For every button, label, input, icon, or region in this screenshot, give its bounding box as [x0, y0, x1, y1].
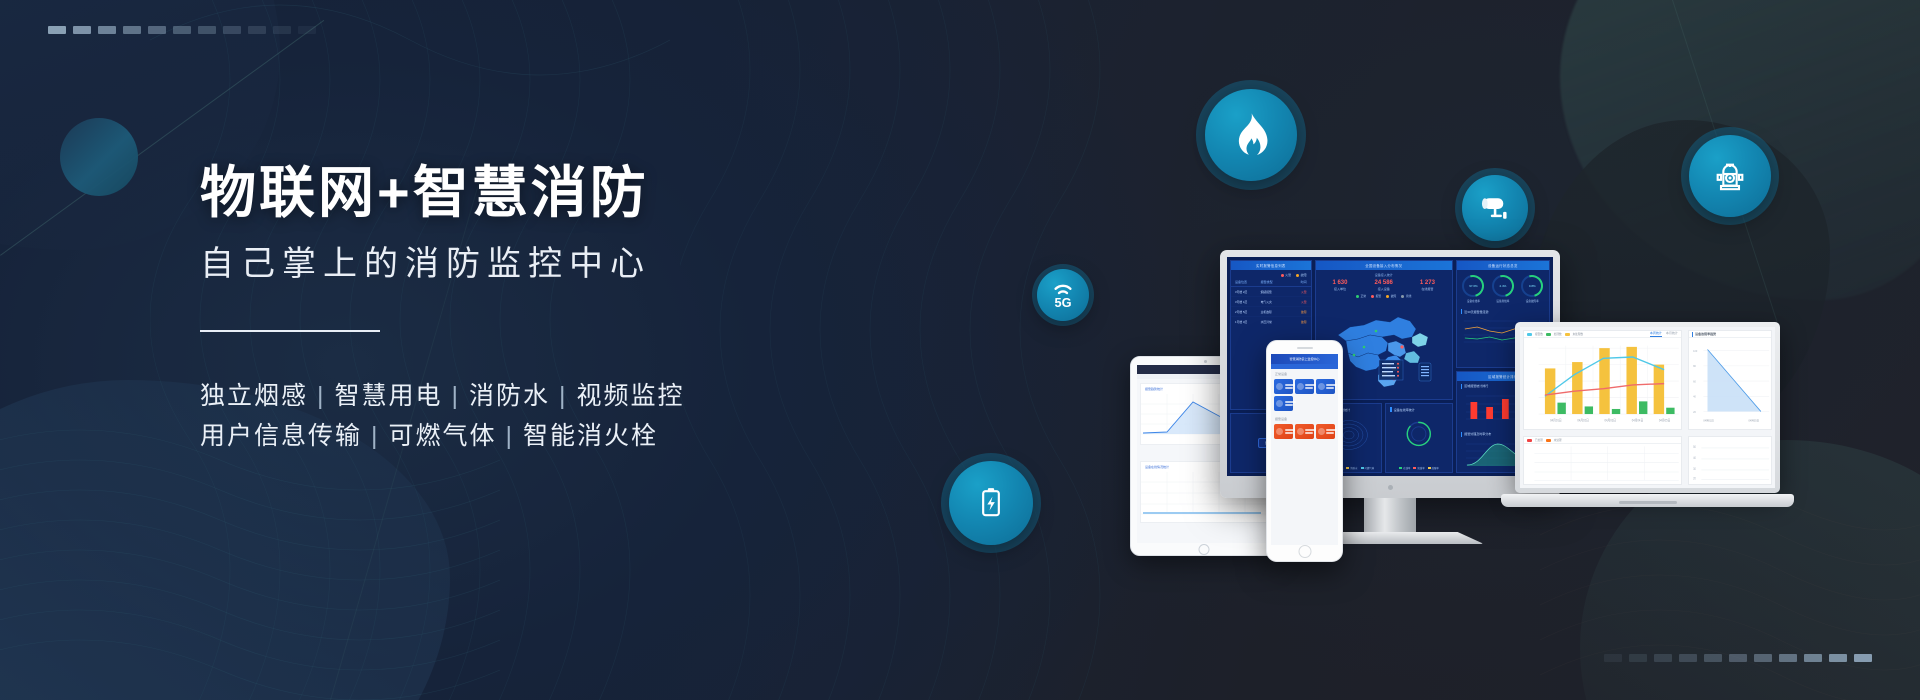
tablet-home-button[interactable]	[1131, 543, 1277, 555]
laptop-bottom-card: 已处理 未处理	[1523, 436, 1682, 485]
cell-status: 故障	[1291, 310, 1307, 314]
axis-tick: 04月05日	[1659, 418, 1670, 422]
tile-icon	[1318, 383, 1325, 390]
badge-hydrant	[1681, 127, 1779, 225]
legend-label: 已处理	[1535, 438, 1543, 442]
legend-fault: 故障	[1301, 273, 1307, 277]
cell-type: 电气火灾	[1261, 300, 1288, 304]
feature-separator: |	[443, 382, 470, 410]
online-rate-panel: 设备在线率统计 在线率 离线率	[1385, 403, 1453, 473]
camera-icon	[1477, 190, 1513, 226]
chart-legend: 已处理 未处理	[1527, 438, 1562, 442]
device-status-header: 设备运行状态总览	[1457, 261, 1549, 270]
hydrant-icon	[1710, 156, 1750, 196]
feature-row-1: 独立烟感|智慧用电|消防水|视频监控	[200, 376, 860, 416]
cell-status: 火警	[1291, 290, 1307, 294]
axis-tick: 04月02日	[1577, 418, 1588, 422]
laptop-bottom-header: 已处理 未处理	[1524, 437, 1681, 444]
gauge-ring: 2.4%	[1492, 275, 1514, 297]
table-row[interactable]: 1号楼 3层 水压异常 故障	[1231, 317, 1311, 326]
stat-value: 24 586	[1363, 280, 1404, 286]
feature-separator: |	[550, 382, 577, 410]
page-title: 物联网+智慧消防	[200, 160, 860, 226]
feature-item: 智能消火栓	[523, 422, 658, 450]
phone-device: 智慧消防掌上监控中心 正常设备 报警设备	[1266, 340, 1343, 562]
legend-item: 可燃气体	[1365, 466, 1375, 470]
legend-alarm: 火警	[1285, 273, 1291, 277]
gauge-ring: 0.8%	[1521, 275, 1543, 297]
badge-camera	[1455, 168, 1535, 248]
cell-location: 2号楼 5层	[1235, 310, 1258, 314]
cell-location: 3号楼 2层	[1235, 290, 1258, 294]
laptop-grouped-bar-chart: 04月01日 04月02日 04月03日 04月04日 04月05日	[1524, 338, 1681, 429]
feature-item: 独立烟感	[200, 382, 308, 410]
list-item[interactable]	[1316, 379, 1335, 394]
alarm-list-title: 实时报警信息列表	[1256, 263, 1286, 268]
cell-status: 火警	[1291, 300, 1307, 304]
chart3-title: 报警处理及时率分布	[1464, 432, 1491, 436]
region-rank-header-title: 区域报警统计排行	[1488, 374, 1518, 379]
stat-label: 接入设备	[1363, 287, 1404, 291]
5g-icon: 5G	[1046, 278, 1080, 312]
stat-label: 在线报警	[1407, 287, 1448, 291]
stats-row: 1 630 接入单位 24 586 接入设备 1 273	[1316, 277, 1452, 294]
flame-icon	[1227, 111, 1275, 159]
axis-tick: 04月05日	[1748, 418, 1759, 422]
axis-tick: 40	[1693, 394, 1696, 398]
list-item[interactable]	[1316, 424, 1335, 439]
col-location: 设备位置	[1235, 280, 1258, 284]
cell-location: 3号楼 1层	[1235, 300, 1258, 304]
alarm-list-header: 实时报警信息列表	[1231, 261, 1311, 270]
battery-icon	[971, 483, 1011, 523]
feature-row-2: 用户信息传输|可燃气体|智能消火栓	[200, 416, 860, 456]
tile-icon	[1276, 383, 1283, 390]
decor-gradient-circle	[60, 118, 138, 196]
col-time: 时间	[1291, 280, 1307, 284]
phone-app-header: 智慧消防掌上监控中心	[1271, 354, 1338, 364]
list-item[interactable]	[1274, 379, 1293, 394]
laptop-screen: 报警数 处理数 未处理数 本周统计 本月统计	[1520, 327, 1775, 488]
cell-type: 主机故障	[1261, 310, 1288, 314]
tile-icon	[1297, 428, 1304, 435]
stat-block: 24 586 接入设备	[1363, 280, 1404, 291]
laptop-base	[1501, 494, 1794, 507]
legend-label: 未处理	[1554, 438, 1562, 442]
gauge-value: 2.4%	[1494, 277, 1512, 295]
gauge-value: 97.6%	[1464, 277, 1482, 295]
decor-dash-rule-top-left	[48, 25, 316, 34]
gauge-label: 设备故障率	[1521, 299, 1543, 303]
5g-label: 5G	[1054, 295, 1071, 310]
list-item[interactable]	[1274, 396, 1293, 411]
laptop-bar-card: 报警数 处理数 未处理数 本周统计 本月统计	[1523, 330, 1682, 430]
list-item[interactable]	[1295, 379, 1314, 394]
feature-item: 消防水	[469, 382, 550, 410]
stat-value: 1 273	[1407, 280, 1448, 286]
online-gauge	[1386, 413, 1452, 453]
laptop-side-chart-title: 设备故障率趋势	[1695, 332, 1716, 336]
axis-tick: 30	[1693, 467, 1696, 472]
badge-flame	[1196, 80, 1306, 190]
axis-tick: 40	[1693, 456, 1696, 461]
axis-tick: 20	[1693, 476, 1696, 481]
legend-item: 故障率	[1432, 466, 1439, 470]
cell-location: 1号楼 3层	[1235, 320, 1258, 324]
gauge-block: 0.8% 设备故障率	[1521, 275, 1543, 303]
feature-item: 智慧用电	[335, 382, 443, 410]
feature-separator: |	[308, 382, 335, 410]
col-type: 报警类型	[1261, 280, 1288, 284]
badge-battery	[941, 453, 1041, 553]
hero-copy: 物联网+智慧消防 自己掌上的消防监控中心 独立烟感|智慧用电|消防水|视频监控 …	[200, 160, 860, 456]
dashboard-title: 全国设备接入分布情况	[1365, 263, 1402, 268]
stats-subtitle: 设备接入统计	[1316, 270, 1452, 277]
laptop-bottom-grid	[1524, 444, 1681, 484]
laptop-lid: 报警数 处理数 未处理数 本周统计 本月统计	[1515, 322, 1780, 493]
axis-tick: 100	[1693, 349, 1698, 353]
legend-label: 报警数	[1535, 332, 1543, 336]
tile-icon	[1318, 428, 1325, 435]
table-row[interactable]: 3号楼 2层 烟感报警 火警	[1231, 287, 1311, 297]
stat-block: 1 630 接入单位	[1320, 280, 1361, 291]
legend-item: 在线率	[1403, 466, 1410, 470]
feature-separator: |	[362, 422, 389, 450]
stat-label: 接入单位	[1320, 287, 1361, 291]
tab-week[interactable]: 本周统计	[1650, 331, 1662, 337]
laptop-area-chart: 100 80 60 40 20 04月01日 0	[1689, 338, 1771, 429]
feature-item: 可燃气体	[389, 422, 497, 450]
table-row[interactable]: 2号楼 5层 主机故障 故障	[1231, 307, 1311, 317]
decor-dash-rule-bottom-right	[1604, 653, 1872, 662]
phone-tiles-alarm	[1271, 421, 1338, 442]
legend-item: 离线率	[1417, 466, 1424, 470]
phone-tiles-normal	[1271, 376, 1338, 414]
legend-label: 未处理数	[1573, 332, 1583, 336]
title-divider	[200, 330, 380, 332]
badge-5g: 5G	[1032, 264, 1094, 326]
laptop-area-card: 设备故障率趋势 100 80	[1688, 330, 1772, 430]
table-row[interactable]: 3号楼 1层 电气火灾 火警	[1231, 297, 1311, 307]
phone-app-title: 智慧消防掌上监控中心	[1289, 357, 1319, 361]
feature-list: 独立烟感|智慧用电|消防水|视频监控 用户信息传输|可燃气体|智能消火栓	[200, 376, 860, 456]
page-subtitle: 自己掌上的消防监控中心	[200, 242, 860, 286]
laptop-bar-card-header: 报警数 处理数 未处理数 本周统计 本月统计	[1524, 331, 1681, 338]
laptop-area-card-header: 设备故障率趋势	[1689, 331, 1771, 338]
hero-banner: 物联网+智慧消防 自己掌上的消防监控中心 独立烟感|智慧用电|消防水|视频监控 …	[0, 0, 1920, 700]
cell-type: 烟感报警	[1261, 290, 1288, 294]
map-header: 全国设备接入分布情况	[1316, 261, 1452, 270]
axis-tick: 04月04日	[1632, 418, 1643, 422]
axis-tick: 20	[1693, 409, 1696, 413]
device-mockups: 报警趋势统计 查看全部设备数据	[1120, 280, 1880, 570]
feature-item: 用户信息传输	[200, 422, 362, 450]
laptop-bottom-right-chart: 50 40 30 20	[1689, 437, 1771, 484]
decor-texture-bottom-left	[0, 420, 500, 700]
axis-tick: 04月01日	[1703, 418, 1714, 422]
legend-label: 处理数	[1554, 332, 1562, 336]
cell-type: 水压异常	[1261, 320, 1288, 324]
alarm-table-body: 3号楼 2层 烟感报警 火警 3号楼 1层 电气火灾 火警	[1231, 287, 1311, 326]
axis-tick: 50	[1693, 445, 1696, 450]
tile-icon	[1276, 428, 1283, 435]
phone-section-normal: 正常设备	[1271, 369, 1338, 376]
axis-tick: 80	[1693, 364, 1696, 368]
legend-item: 消防水	[1350, 466, 1357, 470]
stat-block: 1 273 在线报警	[1407, 280, 1448, 291]
chart2-title: 区域报警统计排行	[1464, 384, 1488, 388]
axis-tick: 04月03日	[1605, 418, 1616, 422]
tile-icon	[1276, 400, 1283, 407]
laptop-device: 报警数 处理数 未处理数 本周统计 本月统计	[1515, 322, 1780, 507]
gauge-value: 0.8%	[1523, 277, 1541, 295]
gauge-label: 设备离线率	[1492, 299, 1514, 303]
gauge-block: 2.4% 设备离线率	[1492, 275, 1514, 303]
tab-month[interactable]: 本月统计	[1666, 331, 1678, 337]
cell-status: 故障	[1291, 320, 1307, 324]
online-rate-title: 设备在线率统计	[1394, 408, 1415, 412]
phone-screen: 智慧消防掌上监控中心 正常设备 报警设备	[1271, 354, 1338, 545]
chart1-title: 近30天报警量走势	[1464, 310, 1488, 314]
gauge-ring: 97.6%	[1462, 275, 1484, 297]
phone-section-alarm: 报警设备	[1271, 414, 1338, 421]
feature-item: 视频监控	[577, 382, 685, 410]
gauge-label: 设备在线率	[1462, 299, 1484, 303]
gauge-block: 97.6% 设备在线率	[1462, 275, 1484, 303]
laptop-bottom-right-card: 50 40 30 20	[1688, 436, 1772, 485]
axis-tick: 60	[1693, 379, 1696, 383]
stat-value: 1 630	[1320, 280, 1361, 286]
axis-tick: 04月01日	[1550, 418, 1561, 422]
chart-legend: 报警数 处理数 未处理数	[1527, 332, 1583, 336]
device-status-title: 设备运行状态总览	[1488, 263, 1518, 268]
list-item[interactable]	[1274, 424, 1293, 439]
list-item[interactable]	[1295, 424, 1314, 439]
tile-icon	[1297, 383, 1304, 390]
feature-separator: |	[497, 422, 524, 450]
